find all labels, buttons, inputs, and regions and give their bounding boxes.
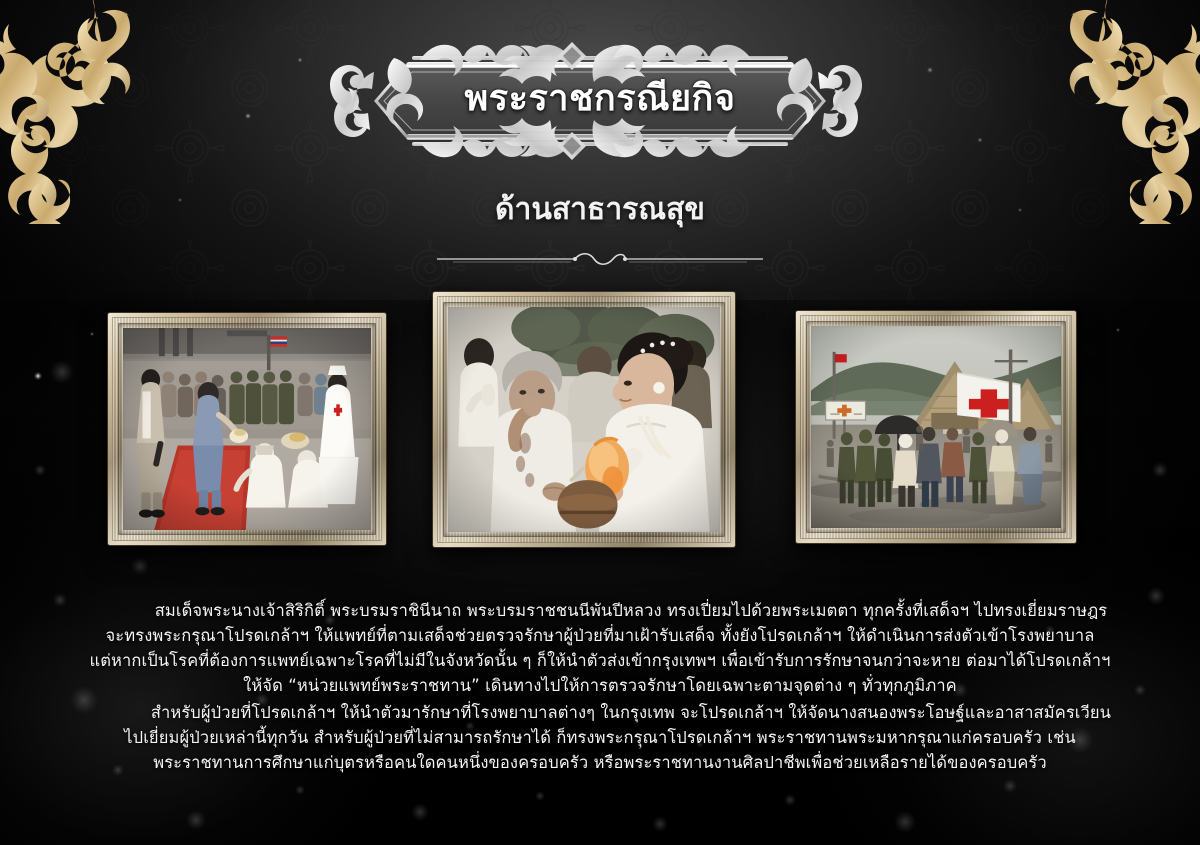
paragraph-1-line-3: แต่หากเป็นโรคที่ต้องการแพทย์เฉพาะโรคที่ไ… [89, 651, 1110, 670]
paragraph-2-line-2: ไปเยี่ยมผู้ป่วยเหล่านี้ทุกวัน สำหรับผู้ป… [124, 728, 1076, 747]
paragraph-1-line-2: จะทรงพระกรุณาโปรดเกล้าฯ ให้แพทย์ที่ตามเส… [106, 626, 1095, 645]
photo-frame-3[interactable] [796, 311, 1076, 543]
photo-frame-1[interactable] [108, 313, 386, 545]
body-copy: สมเด็จพระนางเจ้าสิริกิติ์ พระบรมราชินีนา… [48, 598, 1152, 775]
title-banner: พระราชกรณียกิจ [320, 36, 880, 166]
photo-3 [811, 326, 1061, 528]
page-subtitle: ด้านสาธารณสุข [0, 186, 1200, 233]
flourish-divider-icon [435, 248, 765, 270]
paragraph-2-line-3: พระราชทานการศึกษาแก่บุตรหรือคนใดคนหนึ่งข… [153, 753, 1047, 772]
photo-2 [448, 307, 720, 532]
slide-canvas: พระราชกรณียกิจ ด้านสาธารณสุข [0, 0, 1200, 845]
paragraph-2-line-1: สำหรับผู้ป่วยที่โปรดเกล้าฯ ให้นำตัวมารัก… [151, 703, 1111, 722]
photo-frame-2[interactable] [433, 292, 735, 547]
page-title: พระราชกรณียกิจ [320, 36, 880, 166]
paragraph-1: สมเด็จพระนางเจ้าสิริกิติ์ พระบรมราชินีนา… [48, 598, 1152, 698]
photo-1 [123, 328, 371, 530]
paragraph-1-line-4: ให้จัด “หน่วยแพทย์พระราชทาน” เดินทางไปให… [243, 676, 957, 695]
paragraph-2: สำหรับผู้ป่วยที่โปรดเกล้าฯ ให้นำตัวมารัก… [48, 700, 1152, 775]
paragraph-1-line-1: สมเด็จพระนางเจ้าสิริกิติ์ พระบรมราชินีนา… [155, 601, 1108, 620]
